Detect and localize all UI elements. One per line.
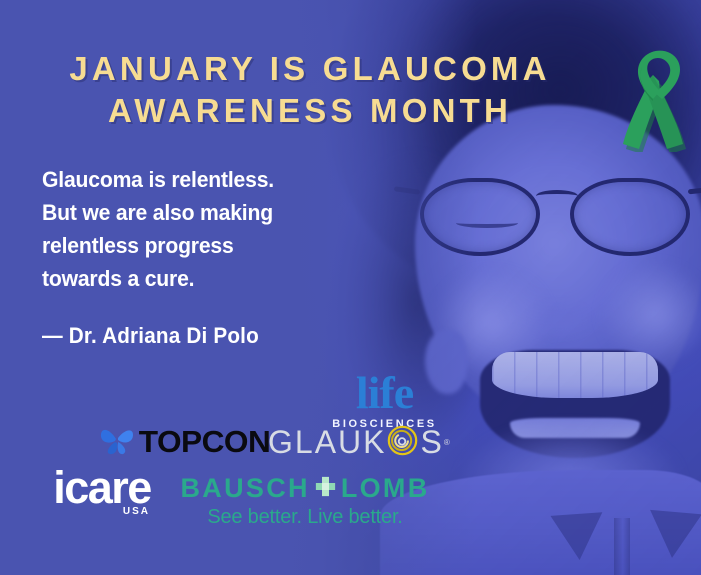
life-biosciences-wordmark: life <box>322 372 447 414</box>
glaucoma-awareness-poster: JANUARY IS GLAUCOMA AWARENESS MONTH Glau… <box>0 0 701 575</box>
glaukos-wordmark-end: S <box>420 424 443 461</box>
bausch-lomb-wordmark-start: BAUSCH <box>181 473 310 504</box>
logo-glaukos[interactable]: GLAUK S ® <box>268 424 450 461</box>
icare-wordmark: icare <box>42 466 162 510</box>
logo-life-biosciences[interactable]: life BIOSCIENCES <box>322 372 447 430</box>
poster-content: JANUARY IS GLAUCOMA AWARENESS MONTH Glau… <box>0 0 701 575</box>
bausch-lomb-wordmark-end: LOMB <box>341 473 430 504</box>
quote-text: Glaucoma is relentless. But we are also … <box>42 163 352 295</box>
bausch-lomb-plus-icon <box>315 476 336 502</box>
logo-bausch-lomb[interactable]: BAUSCH LOMB See better. Live better. <box>172 473 438 529</box>
green-awareness-ribbon-icon <box>612 47 694 152</box>
glaukos-spiral-icon <box>387 425 418 461</box>
logo-topcon[interactable]: TOPCON <box>100 424 269 460</box>
topcon-wordmark: TOPCON <box>139 424 271 460</box>
glaukos-registered-mark: ® <box>444 438 450 447</box>
page-title: JANUARY IS GLAUCOMA AWARENESS MONTH <box>0 48 620 132</box>
glaukos-wordmark-start: GLAUK <box>268 424 386 461</box>
topcon-butterfly-icon <box>100 425 134 460</box>
quote-attribution: — Dr. Adriana Di Polo <box>42 323 259 349</box>
logo-icare[interactable]: icare USA <box>42 466 162 517</box>
bausch-lomb-tagline: See better. Live better. <box>172 506 438 529</box>
